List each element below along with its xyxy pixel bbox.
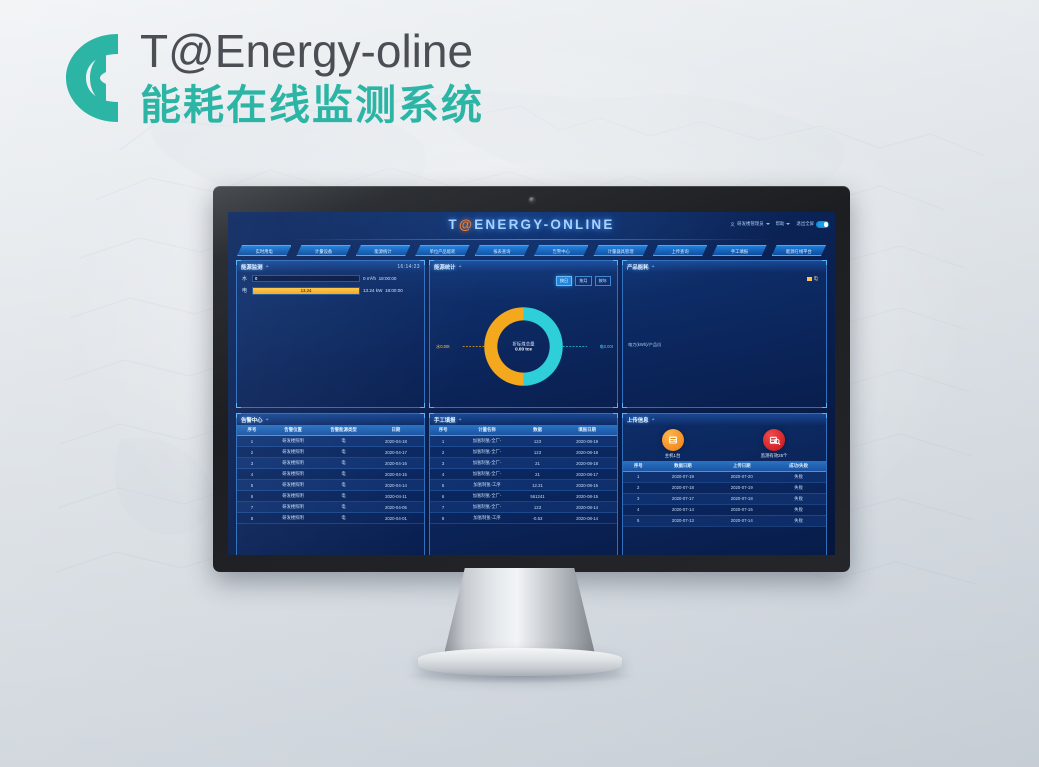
table-cell: 2020-04-05 <box>368 502 424 513</box>
dashboard-app: T@ENERGY-ONLINE 研发楼管理员 帮助 退出全屏 <box>228 212 835 555</box>
table-cell: 电 <box>319 447 368 458</box>
table-row[interactable]: 8研发楼照明电2020-04-01 <box>237 513 424 524</box>
fullscreen-label: 退出全屏 <box>796 221 814 227</box>
app-title-right: ENERGY-ONLINE <box>474 217 614 232</box>
table-cell: 4 <box>237 469 267 480</box>
user-name: 研发楼管理员 <box>737 221 763 227</box>
donut-chart: 折标煤总量 0.00 tce 水0.00t 电0.00t <box>430 290 617 403</box>
plus-icon[interactable]: + <box>652 417 655 423</box>
energy-row-bar-fill: 0 <box>253 276 257 282</box>
table-cell: 2020-08-18 <box>557 447 617 458</box>
corner-marker <box>613 260 618 265</box>
table-cell: 研发楼照明 <box>267 458 319 469</box>
table-row[interactable]: 4加氢制氢-全厂-212020-08-17 <box>430 469 617 480</box>
table-row[interactable]: 32020-07-172020-07-18失败 <box>623 493 826 504</box>
table-cell: 2020-07-18 <box>712 493 771 504</box>
monitor-screen: T@ENERGY-ONLINE 研发楼管理员 帮助 退出全屏 <box>228 212 835 555</box>
table-cell: 2020-07-14 <box>712 515 771 526</box>
table-cell: 2020-04-16 <box>368 458 424 469</box>
upload-stat-group: 主机1台 <box>623 425 826 461</box>
chevron-down-icon <box>786 223 790 225</box>
panel-header: 手工填报 + <box>430 414 617 425</box>
nav-tab-4[interactable]: 报表查询 <box>475 245 529 256</box>
table-cell: 研发楼照明 <box>267 447 319 458</box>
help-menu[interactable]: 帮助 <box>776 221 791 227</box>
table-row[interactable]: 2研发楼照明电2020-04-17 <box>237 447 424 458</box>
table-cell: 4 <box>623 504 653 515</box>
table-cell: 5 <box>430 480 456 491</box>
table-cell: 加氢制氢-工序 <box>456 480 518 491</box>
nav-tab-8[interactable]: 手工填报 <box>712 245 766 256</box>
energy-row-electricity: 电 13.24 13.24 kW 18:00:00 <box>237 285 424 298</box>
table-cell: 2020-04-18 <box>368 436 424 447</box>
nav-bar: 实时用电 计量设备 能源统计 单位产品能耗 报表查询 告警中心 计量器具管理 上… <box>237 245 826 256</box>
donut-center-label: 折标煤总量 0.00 tce <box>513 341 535 352</box>
brand-subtitle: 能耗在线监测系统 <box>140 79 484 131</box>
table-row[interactable]: 12020-07-192020-07-20失败 <box>623 471 826 482</box>
table-row[interactable]: 5研发楼照明电2020-04-14 <box>237 480 424 491</box>
upload-table: 序号 数据日期 上传日期 成功/失败 12020-07-192020-07-20… <box>623 461 826 527</box>
plus-icon[interactable]: + <box>459 417 462 423</box>
col-status[interactable]: 成功/失败 <box>771 461 826 472</box>
panel-body: 序号 告警位置 告警能源类型 日期 1研发楼照明电2020-04-182研发楼照… <box>237 425 424 555</box>
table-cell: 6 <box>430 491 456 502</box>
table-header-row: 序号 数据日期 上传日期 成功/失败 <box>623 461 826 472</box>
table-cell: 2020-07-14 <box>653 504 712 515</box>
table-row[interactable]: 1研发楼照明电2020-04-18 <box>237 436 424 447</box>
col-meter-name[interactable]: 计量名称 <box>456 425 518 436</box>
corner-marker <box>429 413 434 418</box>
table-cell: 3 <box>430 458 456 469</box>
clock-readout: 16:14:23 <box>397 264 420 270</box>
monitor-stand-base <box>418 648 622 676</box>
upload-stat-caption: 监测有效25个 <box>761 453 788 459</box>
table-cell: 失败 <box>771 482 826 493</box>
energy-row-label: 电 <box>242 287 249 294</box>
monitor: T@ENERGY-ONLINE 研发楼管理员 帮助 退出全屏 <box>213 186 850 572</box>
panel-header: 上传信息 + <box>623 414 826 425</box>
nav-tab-5[interactable]: 告警中心 <box>534 245 588 256</box>
table-cell: 研发楼照明 <box>267 502 319 513</box>
brand-header: T@Energy-oline 能耗在线监测系统 <box>56 22 484 132</box>
server-host-icon <box>662 429 684 451</box>
panel-alarm-center: 告警中心 + 序号 告警位置 告警能源类型 日期 1研发楼照明电2020-04-… <box>236 413 425 555</box>
table-cell: 123 <box>518 436 557 447</box>
panel-title: 能源统计 <box>434 263 456 271</box>
table-row[interactable]: 52020-07-132020-07-14失败 <box>623 515 826 526</box>
corner-marker <box>613 413 618 418</box>
nav-tab-1[interactable]: 计量设备 <box>296 245 350 256</box>
table-cell: 研发楼照明 <box>267 491 319 502</box>
panel-header: 能源监测 + 16:14:23 <box>237 261 424 272</box>
donut-annotation-water: 水0.00t <box>436 344 450 350</box>
legend-swatch-electricity <box>807 277 812 281</box>
nav-tab-7[interactable]: 上传查询 <box>653 245 707 256</box>
col-value[interactable]: 数据 <box>518 425 557 436</box>
table-cell: 研发楼照明 <box>267 480 319 491</box>
panel-body: 主机1台 <box>623 425 826 555</box>
chart-axis-label: 电力(kWh)/产品(t) <box>628 342 661 348</box>
energy-row-value: 13.24 kW 18:00:00 <box>363 288 419 293</box>
table-cell: 2020-07-19 <box>712 482 771 493</box>
energy-row-value: 0 m³/h 18:00:00 <box>363 276 419 281</box>
table-cell: 失败 <box>771 493 826 504</box>
table-cell: 3 <box>237 458 267 469</box>
col-upload-date[interactable]: 上传日期 <box>712 461 771 472</box>
table-cell: 2020-08-15 <box>557 491 617 502</box>
table-row[interactable]: 3研发楼照明电2020-04-16 <box>237 458 424 469</box>
corner-marker <box>420 413 425 418</box>
table-cell: 12.21 <box>518 480 557 491</box>
table-cell: 研发楼照明 <box>267 436 319 447</box>
table-cell: 加氢制氢-全厂- <box>456 458 518 469</box>
table-cell: 2020-07-13 <box>653 515 712 526</box>
plus-icon[interactable]: + <box>266 417 269 423</box>
table-cell: 加氢制氢-工序 <box>456 513 518 524</box>
fullscreen-toggle-group[interactable]: 退出全屏 <box>796 221 829 228</box>
table-cell: 2020-07-17 <box>653 493 712 504</box>
panel-body: 按日 按月 按年 <box>430 272 617 407</box>
table-cell: 1 <box>623 471 653 482</box>
table-cell: 加氢制氢-全厂- <box>456 502 518 513</box>
table-cell: 2020-04-11 <box>368 491 424 502</box>
table-cell: 7 <box>430 502 456 513</box>
table-cell: 561241 <box>518 491 557 502</box>
period-toggle-day[interactable]: 按日 <box>556 276 572 286</box>
nav-tab-3[interactable]: 单位产品能耗 <box>415 245 469 256</box>
corner-marker <box>236 413 241 418</box>
panel-title: 上传信息 <box>627 416 649 424</box>
corner-marker <box>429 260 434 265</box>
panel-title: 告警中心 <box>241 416 263 424</box>
title-divider <box>289 239 775 240</box>
user-menu[interactable]: 研发楼管理员 <box>730 221 769 227</box>
alarm-table: 序号 告警位置 告警能源类型 日期 1研发楼照明电2020-04-182研发楼照… <box>237 425 424 524</box>
energy-row-bar-fill: 13.24 <box>253 288 359 294</box>
help-label: 帮助 <box>776 221 785 227</box>
corner-marker <box>420 260 425 265</box>
table-row[interactable]: 6研发楼照明电2020-04-11 <box>237 491 424 502</box>
table-cell: -0.53 <box>518 513 557 524</box>
at-symbol-icon: @ <box>459 217 474 232</box>
panel-product-energy: 产品能耗 + 电 电力(kWh)/产品(t) <box>622 260 827 408</box>
table-cell: 21 <box>518 458 557 469</box>
panel-title: 能源监测 <box>241 263 263 271</box>
table-row[interactable]: 3加氢制氢-全厂-212020-08-18 <box>430 458 617 469</box>
table-row[interactable]: 1加氢制氢-全厂-1232020-08-19 <box>430 436 617 447</box>
table-cell: 5 <box>623 515 653 526</box>
legend-label-electricity: 电 <box>814 276 818 282</box>
plus-icon[interactable]: + <box>266 264 269 270</box>
panel-energy-stats: 能源统计 + 按日 按月 按年 <box>429 260 618 408</box>
upload-stat-monitors[interactable]: 监测有效25个 <box>761 429 788 459</box>
corner-marker <box>822 260 827 265</box>
table-cell: 2020-04-15 <box>368 469 424 480</box>
table-cell: 4 <box>430 469 456 480</box>
col-data-date[interactable]: 数据日期 <box>653 461 712 472</box>
panel-body: 序号 计量名称 数据 填报日期 1加氢制氢-全厂-1232020-08-192加… <box>430 425 617 555</box>
table-header-row: 序号 计量名称 数据 填报日期 <box>430 425 617 436</box>
col-index[interactable]: 序号 <box>430 425 456 436</box>
col-report-date[interactable]: 填报日期 <box>557 425 617 436</box>
table-cell: 123 <box>518 447 557 458</box>
table-cell: 1 <box>430 436 456 447</box>
table-cell: 2020-07-15 <box>712 504 771 515</box>
table-row[interactable]: 6加氢制氢-全厂-5612412020-08-15 <box>430 491 617 502</box>
plus-icon[interactable]: + <box>652 264 655 270</box>
upload-stat-caption: 主机1台 <box>662 453 684 459</box>
panel-manual-entry: 手工填报 + 序号 计量名称 数据 填报日期 1加氢制氢-全厂-1232020-… <box>429 413 618 555</box>
donut-annotation-electricity: 电0.00t <box>599 344 613 350</box>
table-cell: 2 <box>430 447 456 458</box>
col-energy-type[interactable]: 告警能源类型 <box>319 425 368 436</box>
table-cell: 电 <box>319 458 368 469</box>
webcam-icon <box>529 197 535 203</box>
table-cell: 失败 <box>771 471 826 482</box>
panel-title: 产品能耗 <box>627 263 649 271</box>
panel-body: 水 0 0 m³/h 18:00:00 电 13.24 13.24 kW 18:… <box>237 272 424 407</box>
table-cell: 2 <box>237 447 267 458</box>
chevron-down-icon <box>766 223 770 225</box>
table-header-row: 序号 告警位置 告警能源类型 日期 <box>237 425 424 436</box>
toggle-switch-icon[interactable] <box>816 221 829 228</box>
table-row[interactable]: 5加氢制氢-工序12.212020-08-15 <box>430 480 617 491</box>
energy-row-label: 水 <box>242 275 249 282</box>
corner-marker <box>822 413 827 418</box>
table-cell: 8 <box>237 513 267 524</box>
table-cell: 6 <box>237 491 267 502</box>
donut-center-value: 0.00 tce <box>513 346 535 352</box>
table-cell: 1 <box>237 436 267 447</box>
panel-title: 手工填报 <box>434 416 456 424</box>
table-cell: 失败 <box>771 515 826 526</box>
user-bar: 研发楼管理员 帮助 退出全屏 <box>730 221 829 228</box>
energy-row-bar-track: 13.24 <box>252 287 360 295</box>
period-toggle-month[interactable]: 按月 <box>575 276 591 286</box>
period-toggle-group: 按日 按月 按年 <box>556 276 611 286</box>
panel-body: 电 电力(kWh)/产品(t) <box>623 272 826 407</box>
table-row[interactable]: 2加氢制氢-全厂-1232020-08-18 <box>430 447 617 458</box>
table-cell: 2020-08-15 <box>557 480 617 491</box>
table-cell: 电 <box>319 436 368 447</box>
table-row[interactable]: 4研发楼照明电2020-04-15 <box>237 469 424 480</box>
corner-marker <box>622 413 627 418</box>
upload-stat-host[interactable]: 主机1台 <box>662 429 684 459</box>
table-cell: 2020-08-14 <box>557 502 617 513</box>
col-location[interactable]: 告警位置 <box>267 425 319 436</box>
table-cell: 加氢制氢-全厂- <box>456 491 518 502</box>
table-cell: 2020-07-18 <box>653 482 712 493</box>
brand-title: T@Energy-oline <box>140 23 484 79</box>
chart-legend: 电 <box>807 276 818 282</box>
col-date[interactable]: 日期 <box>368 425 424 436</box>
panel-header: 告警中心 + <box>237 414 424 425</box>
panel-energy-monitor: 能源监测 + 16:14:23 水 0 0 m³/h 18:00:00 电 <box>236 260 425 408</box>
table-cell: 加氢制氢-全厂- <box>456 469 518 480</box>
table-row[interactable]: 7加氢制氢-全厂-1232020-08-14 <box>430 502 617 513</box>
panel-header: 能源统计 + <box>430 261 617 272</box>
col-index[interactable]: 序号 <box>623 461 653 472</box>
table-cell: 2020-08-18 <box>557 458 617 469</box>
table-cell: 2020-07-19 <box>653 471 712 482</box>
nav-tab-6[interactable]: 计量器具管理 <box>593 245 647 256</box>
table-cell: 失败 <box>771 504 826 515</box>
panel-header: 产品能耗 + <box>623 261 826 272</box>
plus-icon[interactable]: + <box>459 264 462 270</box>
app-title-left: T <box>448 217 458 232</box>
table-cell: 2020-08-17 <box>557 469 617 480</box>
table-cell: 加氢制氢-全厂- <box>456 447 518 458</box>
nav-tab-0[interactable]: 实时用电 <box>237 245 291 256</box>
table-cell: 2020-04-14 <box>368 480 424 491</box>
table-cell: 123 <box>518 502 557 513</box>
table-cell: 7 <box>237 502 267 513</box>
document-search-icon <box>763 429 785 451</box>
table-cell: 2020-08-14 <box>557 513 617 524</box>
table-cell: 电 <box>319 513 368 524</box>
table-row[interactable]: 22020-07-182020-07-19失败 <box>623 482 826 493</box>
monitor-stand-neck-face <box>444 568 596 656</box>
nav-tab-2[interactable]: 能源统计 <box>356 245 410 256</box>
table-row[interactable]: 8加氢制氢-工序-0.532020-08-14 <box>430 513 617 524</box>
donut-center-title: 折标煤总量 <box>513 341 535 347</box>
table-cell: 2020-08-19 <box>557 436 617 447</box>
panel-upload-info: 上传信息 + <box>622 413 827 555</box>
energy-row-water: 水 0 0 m³/h 18:00:00 <box>237 272 424 285</box>
table-row[interactable]: 42020-07-142020-07-15失败 <box>623 504 826 515</box>
period-toggle-year[interactable]: 按年 <box>595 276 611 286</box>
manual-entry-table: 序号 计量名称 数据 填报日期 1加氢制氢-全厂-1232020-08-192加… <box>430 425 617 524</box>
table-cell: 电 <box>319 469 368 480</box>
user-icon <box>730 222 735 227</box>
table-cell: 2 <box>623 482 653 493</box>
table-cell: 电 <box>319 491 368 502</box>
table-cell: 研发楼照明 <box>267 513 319 524</box>
table-cell: 2020-07-20 <box>712 471 771 482</box>
table-row[interactable]: 7研发楼照明电2020-04-05 <box>237 502 424 513</box>
table-cell: 2020-04-17 <box>368 447 424 458</box>
col-index[interactable]: 序号 <box>237 425 267 436</box>
table-cell: 5 <box>237 480 267 491</box>
table-cell: 电 <box>319 480 368 491</box>
corner-marker <box>622 260 627 265</box>
table-cell: 8 <box>430 513 456 524</box>
table-cell: 研发楼照明 <box>267 469 319 480</box>
c-arc-logo-icon <box>56 22 130 132</box>
table-cell: 2020-04-01 <box>368 513 424 524</box>
table-cell: 21 <box>518 469 557 480</box>
table-cell: 3 <box>623 493 653 504</box>
table-cell: 加氢制氢-全厂- <box>456 436 518 447</box>
table-cell: 电 <box>319 502 368 513</box>
energy-row-bar-track: 0 <box>252 275 360 283</box>
nav-tab-9[interactable]: 能源在线平台 <box>772 245 826 256</box>
corner-marker <box>236 260 241 265</box>
